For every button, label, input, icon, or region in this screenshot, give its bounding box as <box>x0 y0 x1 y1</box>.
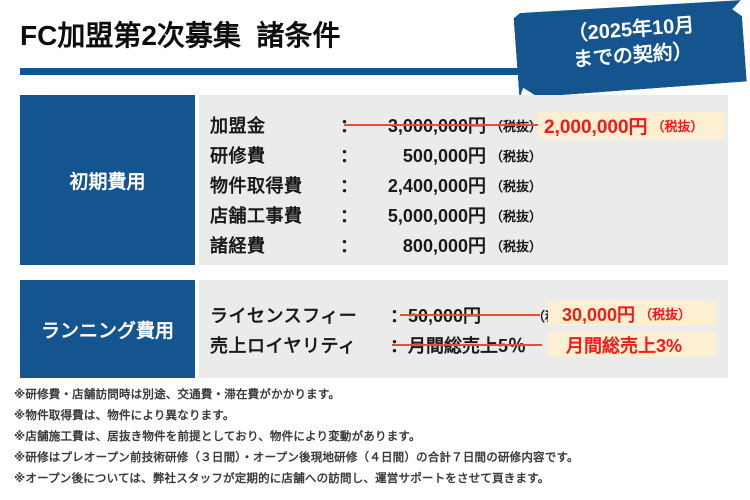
table-row: 研修費 ： 500,000円 （税抜） <box>210 140 542 170</box>
cost-colon: ： <box>340 172 358 198</box>
slide-canvas: FC加盟第2次募集 諸条件 （2025年10月 までの契約） 初期費用 加盟金 … <box>0 0 750 500</box>
cost-item-label: 物件取得費 <box>210 172 340 198</box>
strikethrough-line <box>400 314 540 316</box>
revised-joining-fee-callout: 2,000,000円 （税抜） <box>538 112 724 139</box>
cost-tax-note: （税抜） <box>490 236 542 255</box>
cost-amount: 5,000,000円 <box>358 202 486 228</box>
initial-cost-row-list: 加盟金 ： 3,000,000円 （税抜） 研修費 ： 500,000円 （税抜… <box>210 110 542 260</box>
footnote-list: ※研修費・店舗訪問時は別途、交通費・滞在費がかかります。 ※物件取得費は、物件に… <box>14 390 744 495</box>
footnote-item: ※研修はプレオープン前技術研修（３日間）・オープン後現地研修（４日間）の合計７日… <box>14 453 744 474</box>
page-title: FC加盟第2次募集 諸条件 <box>20 14 340 54</box>
table-row: 売上ロイヤリティ ： 月間総売上5％ <box>210 330 584 360</box>
revised-joining-fee-amount: 2,000,000円 <box>544 112 648 139</box>
cost-item-label: 諸経費 <box>210 232 340 258</box>
cost-tax-note: （税抜） <box>490 176 542 195</box>
revised-license-fee-amount: 30,000円 <box>562 301 635 327</box>
cost-colon: ： <box>340 202 358 228</box>
cost-amount: 2,400,000円 <box>358 172 486 198</box>
cost-amount: 500,000円 <box>358 142 486 168</box>
cost-tax-note: （税抜） <box>490 146 542 165</box>
strikethrough-line <box>392 344 542 346</box>
cost-item-label: ライセンスフィー <box>210 302 390 328</box>
revised-joining-fee-tax-note: （税抜） <box>652 116 704 135</box>
section-label-running-cost-text: ランニング費用 <box>41 316 174 343</box>
footnote-item: ※店舗施工費は、居抜き物件を前提としており、物件により変動があります。 <box>14 432 744 453</box>
footnote-item: ※オープン後については、弊社スタッフが定期的に店舗への訪問し、運営サポートをさせ… <box>14 474 744 495</box>
footnote-item: ※物件取得費は、物件により異なります。 <box>14 411 744 432</box>
revised-royalty-callout: 月間総売上3% <box>548 332 716 357</box>
table-row: 物件取得費 ： 2,400,000円 （税抜） <box>210 170 542 200</box>
section-label-running-cost: ランニング費用 <box>20 280 195 378</box>
table-row: 加盟金 ： 3,000,000円 （税抜） <box>210 110 542 140</box>
cost-amount: 800,000円 <box>358 232 486 258</box>
section-label-initial-cost-text: 初期費用 <box>69 167 145 194</box>
footnote-item: ※研修費・店舗訪問時は別途、交通費・滞在費がかかります。 <box>14 390 744 411</box>
cost-tax-note: （税抜） <box>490 206 542 225</box>
table-row: 諸経費 ： 800,000円 （税抜） <box>210 230 542 260</box>
table-row: ライセンスフィー ： 50,000円 （税抜） <box>210 300 584 330</box>
running-cost-row-list: ライセンスフィー ： 50,000円 （税抜） 売上ロイヤリティ ： 月間総売上… <box>210 300 584 360</box>
cost-item-label: 研修費 <box>210 142 340 168</box>
revised-royalty-amount: 月間総売上3% <box>566 332 682 358</box>
revised-license-fee-tax-note: （税抜） <box>639 304 691 323</box>
table-row: 店舗工事費 ： 5,000,000円 （税抜） <box>210 200 542 230</box>
cost-colon: ： <box>340 142 358 168</box>
strikethrough-line <box>344 124 549 126</box>
cost-item-label: 加盟金 <box>210 112 340 138</box>
section-label-initial-cost: 初期費用 <box>20 95 195 265</box>
cost-item-label: 売上ロイヤリティ <box>210 332 390 358</box>
cost-item-label: 店舗工事費 <box>210 202 340 228</box>
cost-colon: ： <box>340 232 358 258</box>
revised-license-fee-callout: 30,000円 （税抜） <box>548 301 716 326</box>
